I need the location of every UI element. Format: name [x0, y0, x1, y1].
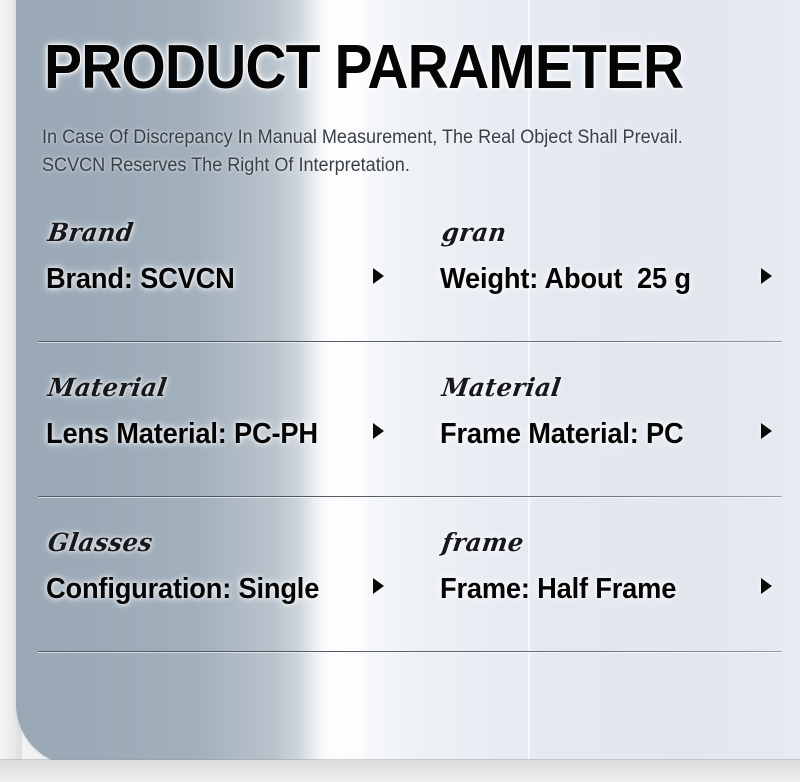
triangle-right-icon [373, 423, 384, 439]
parameter-value: Brand: SCVCN [46, 262, 366, 296]
triangle-right-icon [373, 268, 384, 284]
row-divider [38, 496, 782, 497]
parameter-value: Configuration: Single [46, 572, 366, 606]
subtitle-line-2: SCVCN Reserves The Right Of Interpretati… [42, 152, 707, 180]
row-divider [38, 651, 782, 652]
script-label: Glasses [46, 528, 377, 558]
page-subtitle: In Case Of Discrepancy In Manual Measure… [42, 124, 707, 180]
parameter-row: Material Lens Material: PC-PH Material F… [0, 373, 800, 528]
parameter-value: Frame Material: PC [440, 417, 760, 451]
script-label: Material [46, 373, 377, 403]
row-divider [38, 341, 782, 342]
product-parameter-infographic: PRODUCT PARAMETER In Case Of Discrepancy… [0, 0, 800, 782]
script-label: gran [440, 218, 771, 248]
subtitle-line-1: In Case Of Discrepancy In Manual Measure… [42, 124, 707, 152]
parameter-cell-frame: frame Frame: Half Frame [440, 528, 780, 606]
parameter-value: Weight: About 25 g [440, 262, 760, 296]
script-label: Material [440, 373, 771, 403]
parameter-value: Frame: Half Frame [440, 572, 760, 606]
parameter-cell-weight: gran Weight: About 25 g [440, 218, 780, 296]
parameter-value: Lens Material: PC-PH [46, 417, 366, 451]
parameter-cell-brand: Brand Brand: SCVCN [46, 218, 386, 296]
parameter-cell-frame-material: Material Frame Material: PC [440, 373, 780, 451]
page-title: PRODUCT PARAMETER [44, 37, 683, 99]
script-label: Brand [46, 218, 377, 248]
script-label: frame [440, 528, 771, 558]
parameter-row: Glasses Configuration: Single frame Fram… [0, 528, 800, 683]
parameter-cell-configuration: Glasses Configuration: Single [46, 528, 386, 606]
triangle-right-icon [761, 268, 772, 284]
parameter-row: Brand Brand: SCVCN gran Weight: About 25… [0, 218, 800, 373]
triangle-right-icon [373, 578, 384, 594]
triangle-right-icon [761, 578, 772, 594]
content-layer: PRODUCT PARAMETER In Case Of Discrepancy… [0, 0, 800, 782]
parameter-cell-lens-material: Material Lens Material: PC-PH [46, 373, 386, 451]
triangle-right-icon [761, 423, 772, 439]
